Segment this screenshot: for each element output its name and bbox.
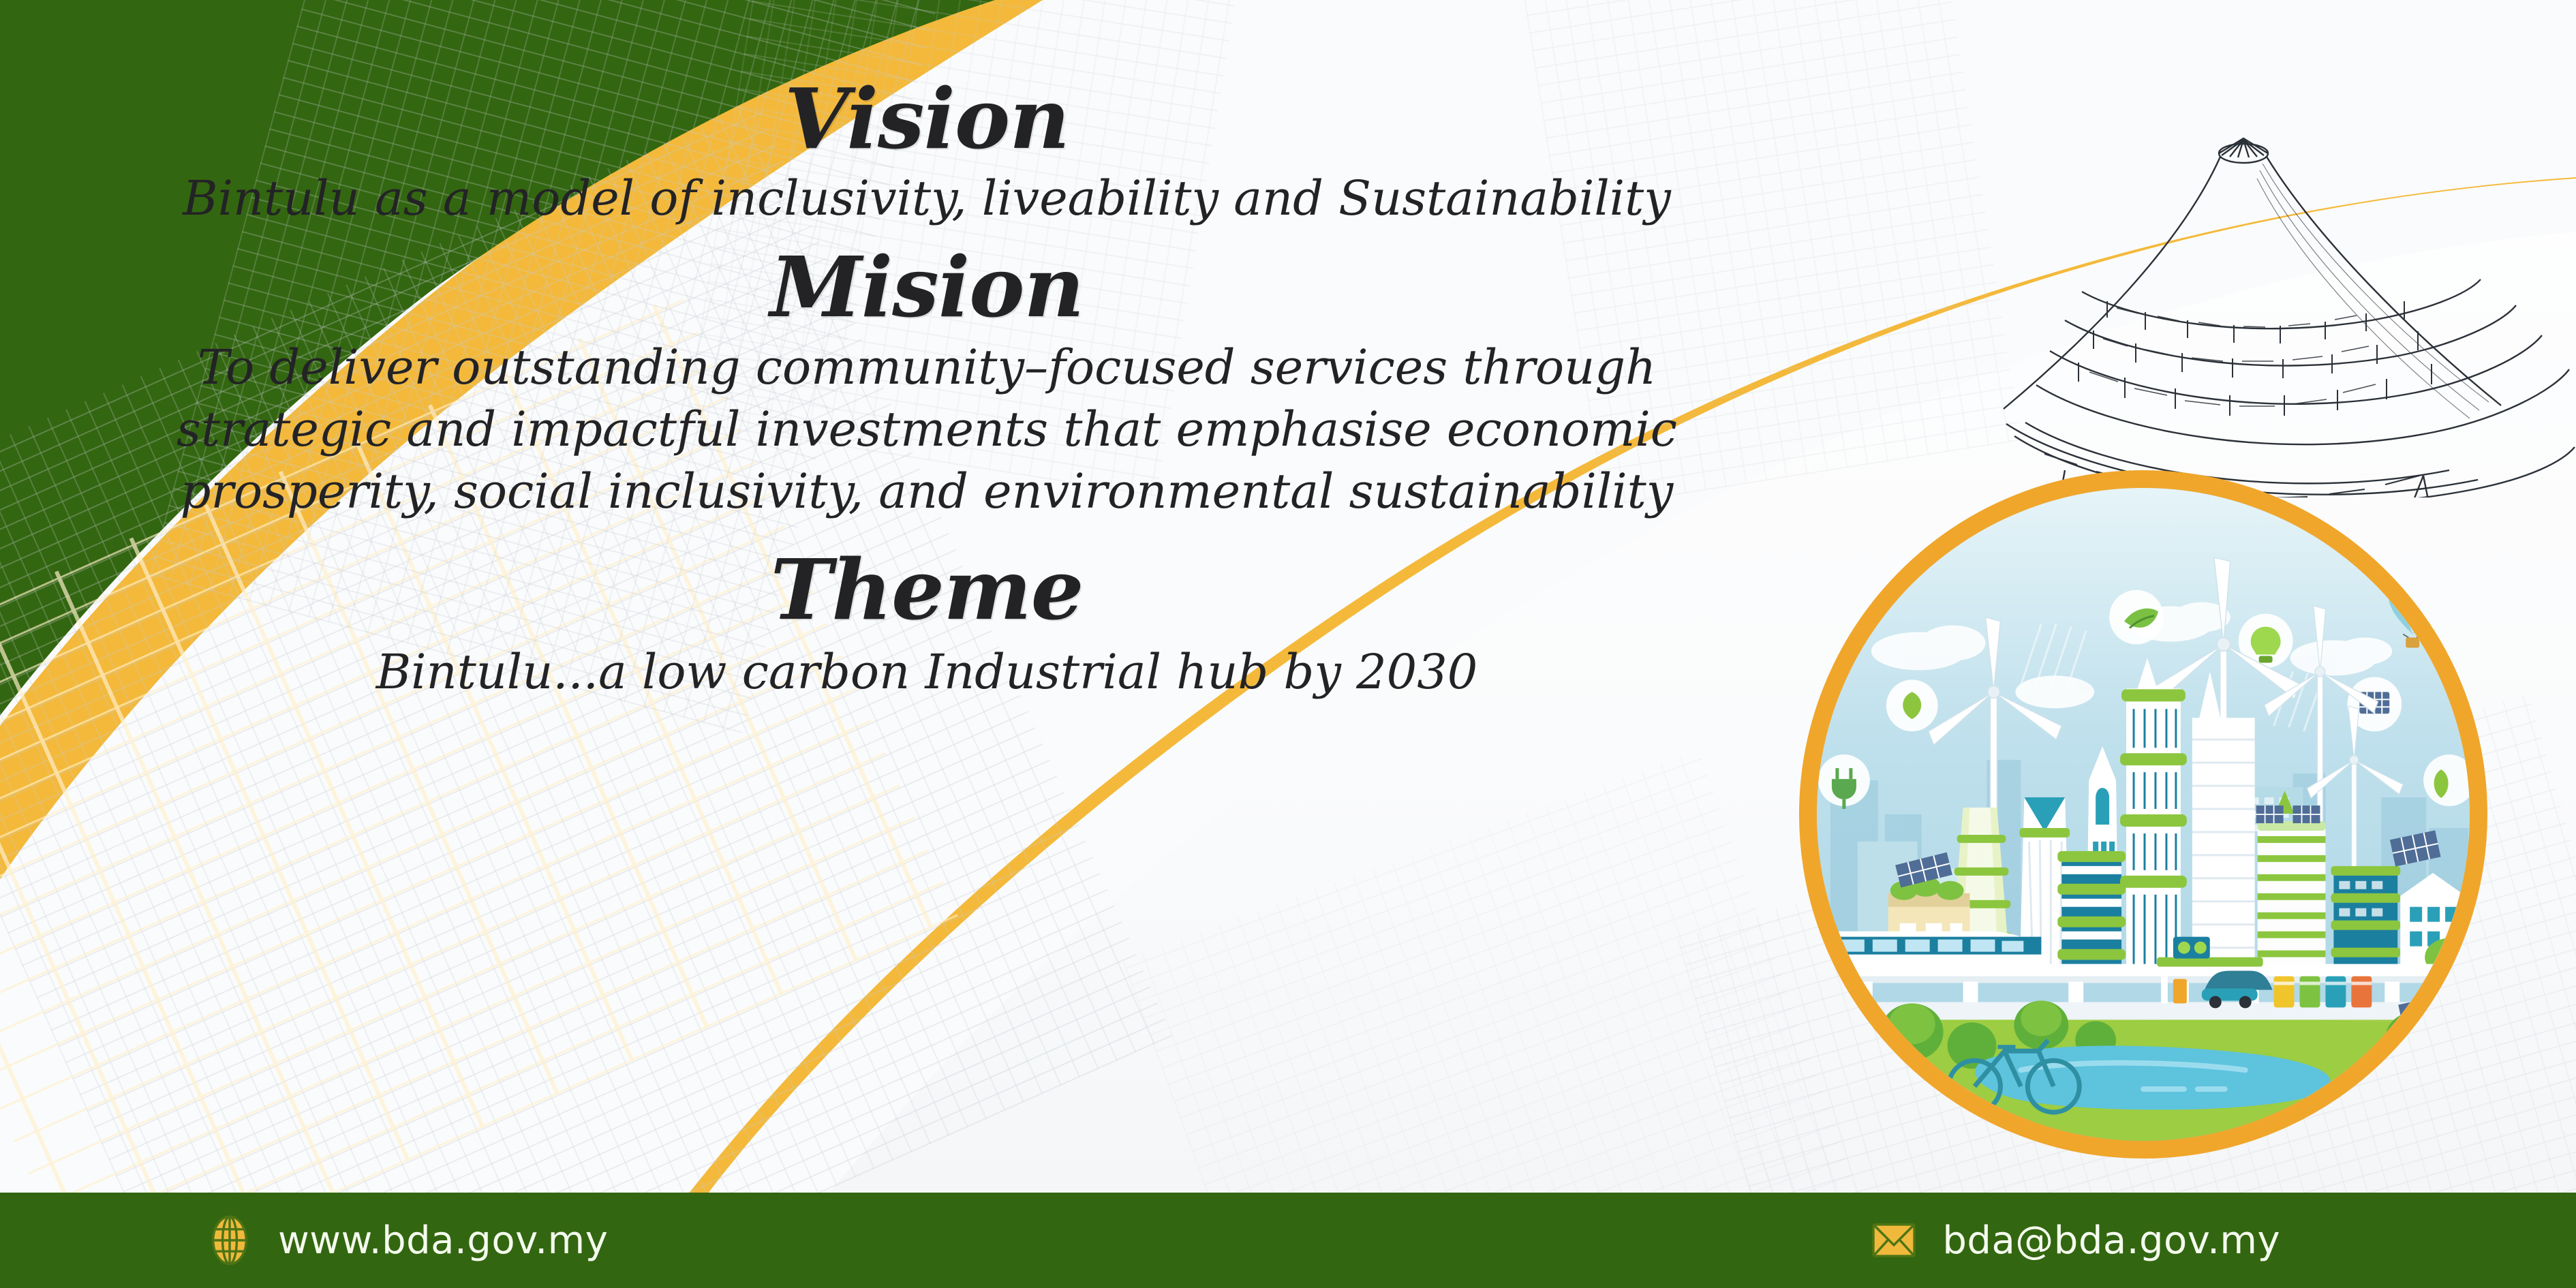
section-vision: Vision Bintulu as a model of inclusivity…	[183, 76, 1671, 230]
section-theme: Theme Bintulu...a low carbon Industrial …	[376, 547, 1478, 703]
banner-root: Vision Bintulu as a model of inclusivity…	[0, 0, 2576, 1288]
text-content: Vision Bintulu as a model of inclusivity…	[0, 0, 1854, 1193]
city-illustration-circle	[1799, 470, 2487, 1159]
footer-website-text: www.bda.gov.my	[278, 1218, 608, 1263]
mision-body: To deliver outstanding community–focused…	[177, 337, 1677, 523]
mision-heading: Mision	[770, 245, 1084, 329]
footer-website[interactable]: www.bda.gov.my	[204, 1215, 608, 1266]
theme-heading: Theme	[771, 547, 1084, 632]
green-city-illustration	[1817, 488, 2470, 1141]
footer-bar: www.bda.gov.my bda@bda.gov.my	[0, 1193, 2576, 1288]
mision-line: To deliver outstanding community–focused…	[198, 337, 1656, 399]
vision-body: Bintulu as a model of inclusivity, livea…	[183, 168, 1671, 230]
theme-body: Bintulu...a low carbon Industrial hub by…	[376, 641, 1478, 703]
globe-icon	[204, 1215, 255, 1266]
vision-heading: Vision	[784, 76, 1069, 161]
conical-building-icon	[1963, 116, 2576, 497]
theme-line: Bintulu...a low carbon Industrial hub by…	[376, 641, 1478, 703]
mision-line: prosperity, social inclusivity, and envi…	[181, 461, 1674, 523]
vision-line: Bintulu as a model of inclusivity, livea…	[183, 168, 1671, 230]
footer-email[interactable]: bda@bda.gov.my	[1869, 1215, 2280, 1266]
section-mision: Mision To deliver outstanding community–…	[177, 245, 1677, 522]
footer-email-text: bda@bda.gov.my	[1942, 1218, 2280, 1263]
mision-line: strategic and impactful investments that…	[177, 399, 1677, 461]
envelope-icon	[1869, 1215, 1919, 1266]
